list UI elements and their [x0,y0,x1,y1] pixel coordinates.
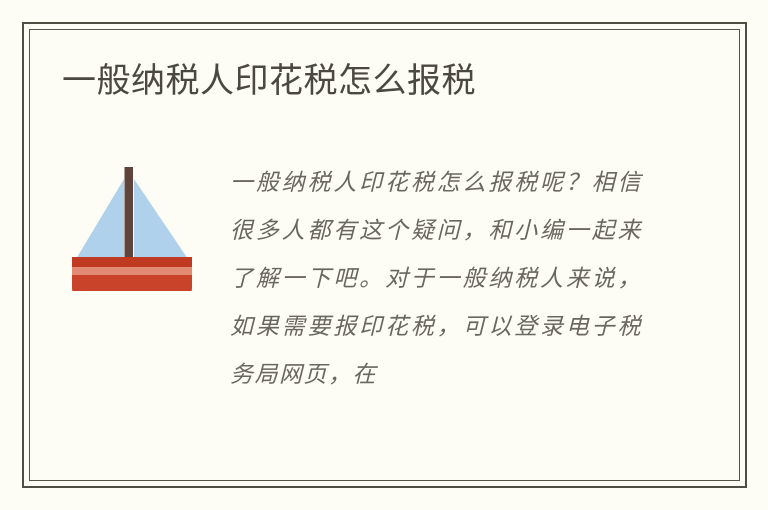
article-card: 一般纳税人印花税怎么报税 一般纳税人印花税怎 [0,0,768,510]
article-body-row: 一般纳税人印花税怎么报税呢？相信很多人都有这个疑问，和小编一起来了解一下吧。对于… [62,141,730,422]
sailboat-icon [62,151,202,291]
article-body-text: 一般纳税人印花税怎么报税呢？相信很多人都有这个疑问，和小编一起来了解一下吧。对于… [230,159,642,399]
hull-deck-shape [72,257,192,267]
card-content: 一般纳税人印花税怎么报税 一般纳税人印花税怎 [29,29,740,481]
right-sail-shape [134,179,188,259]
left-sail-shape [76,179,124,259]
page-title: 一般纳税人印花税怎么报税 [62,60,476,102]
mast-shape [125,167,134,265]
sailboat-illustration [62,151,202,291]
hull-shape [72,275,192,291]
hull-stripe-shape [72,267,192,275]
